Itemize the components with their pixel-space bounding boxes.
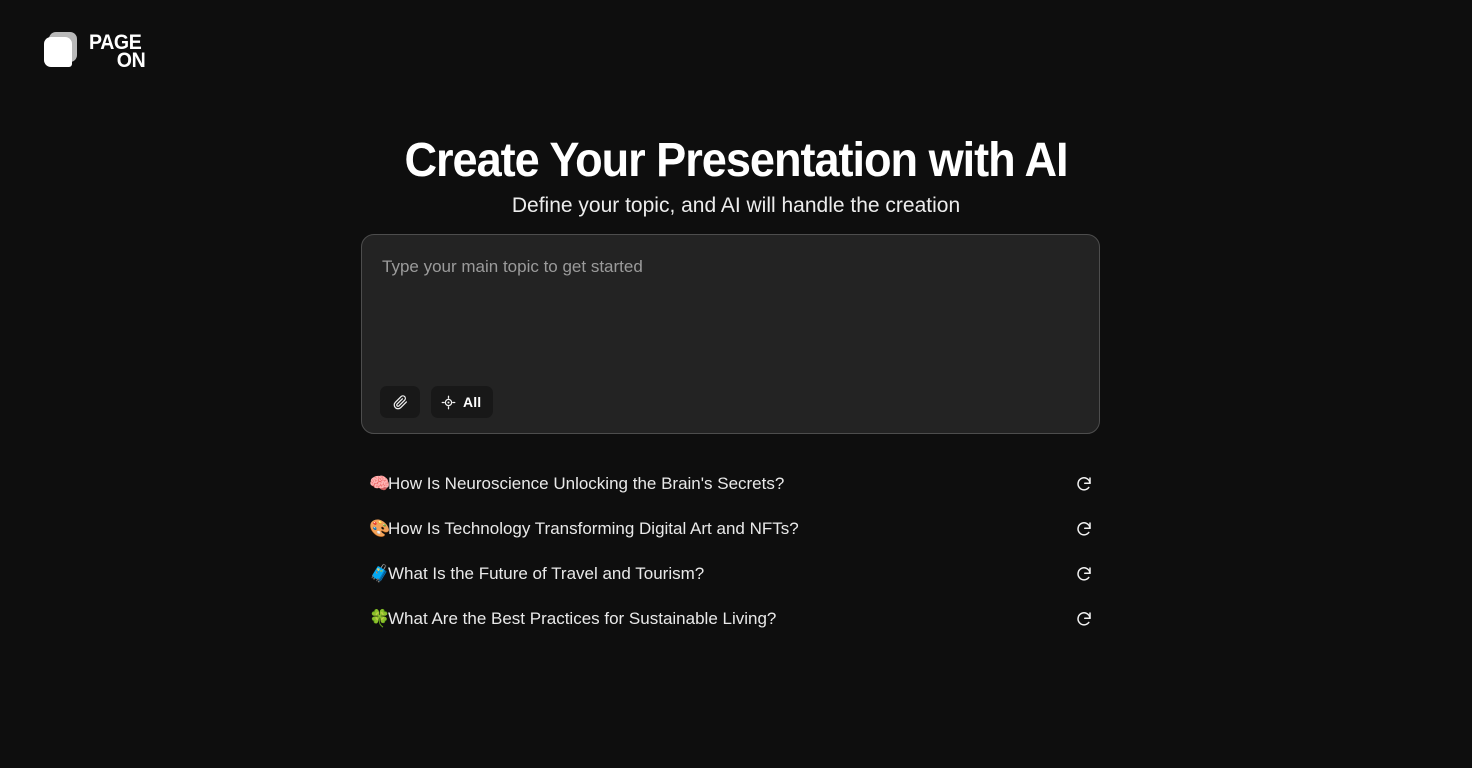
suggestion-text: What Are the Best Practices for Sustaina… xyxy=(388,609,776,629)
refresh-icon[interactable] xyxy=(1073,563,1095,585)
brain-emoji: 🧠 xyxy=(361,475,388,492)
suggestion-list: 🧠 How Is Neuroscience Unlocking the Brai… xyxy=(361,461,1100,641)
topic-composer[interactable]: Type your main topic to get started xyxy=(361,234,1100,434)
refresh-icon[interactable] xyxy=(1073,608,1095,630)
suggestion-text: How Is Neuroscience Unlocking the Brain'… xyxy=(388,474,784,494)
main-content: Create Your Presentation with AI Define … xyxy=(0,0,1472,768)
suggestion-text: What Is the Future of Travel and Tourism… xyxy=(388,564,704,584)
scope-all-button[interactable]: All xyxy=(431,386,493,418)
list-item[interactable]: 🍀 What Are the Best Practices for Sustai… xyxy=(361,596,1100,641)
artist-palette-emoji: 🎨 xyxy=(361,520,388,537)
refresh-icon[interactable] xyxy=(1073,518,1095,540)
page-subtitle: Define your topic, and AI will handle th… xyxy=(0,194,1472,218)
list-item[interactable]: 🧳 What Is the Future of Travel and Touri… xyxy=(361,551,1100,596)
luggage-emoji: 🧳 xyxy=(361,565,388,582)
page-title: Create Your Presentation with AI xyxy=(44,133,1428,188)
suggestion-text: How Is Technology Transforming Digital A… xyxy=(388,519,799,539)
composer-toolbar: All xyxy=(380,386,493,418)
refresh-icon[interactable] xyxy=(1073,473,1095,495)
list-item[interactable]: 🧠 How Is Neuroscience Unlocking the Brai… xyxy=(361,461,1100,506)
crosshair-target-icon xyxy=(441,395,456,410)
topic-input-placeholder[interactable]: Type your main topic to get started xyxy=(382,257,643,277)
four-leaf-clover-emoji: 🍀 xyxy=(361,610,388,627)
list-item[interactable]: 🎨 How Is Technology Transforming Digital… xyxy=(361,506,1100,551)
scope-all-label: All xyxy=(463,394,481,410)
attach-file-button[interactable] xyxy=(380,386,420,418)
paperclip-icon xyxy=(393,395,408,410)
